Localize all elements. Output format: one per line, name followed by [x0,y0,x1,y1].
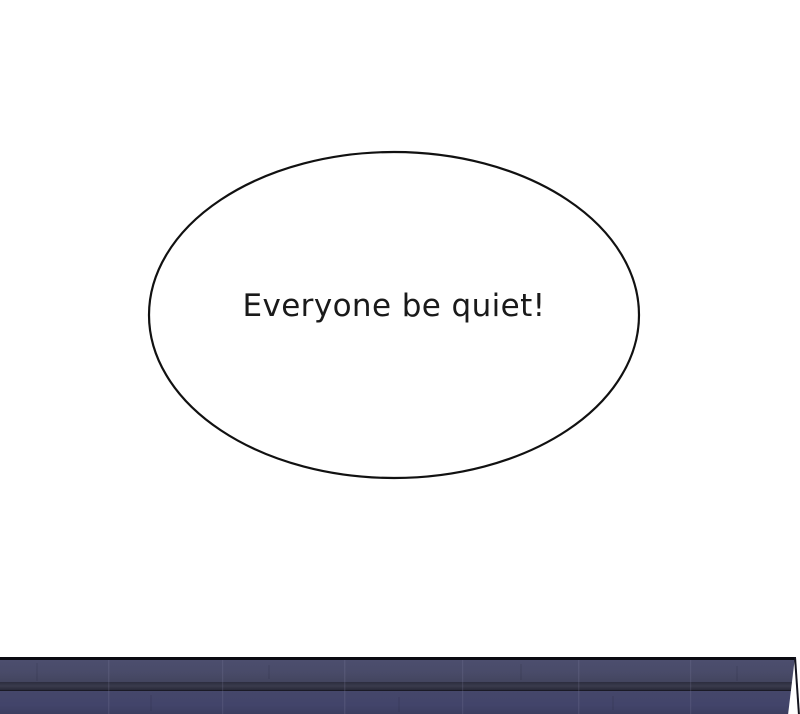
wall-middle-seam [0,682,800,691]
wall-graphic [0,657,800,714]
speech-bubble-outline-icon [0,0,800,714]
speech-bubble: Everyone be quiet! [0,0,800,714]
comic-panel: Everyone be quiet! [0,0,800,714]
wall-top-edge [0,657,800,660]
wall-upper-band [0,660,800,682]
wall-strip [0,657,800,714]
speech-bubble-text: Everyone be quiet! [149,287,639,325]
